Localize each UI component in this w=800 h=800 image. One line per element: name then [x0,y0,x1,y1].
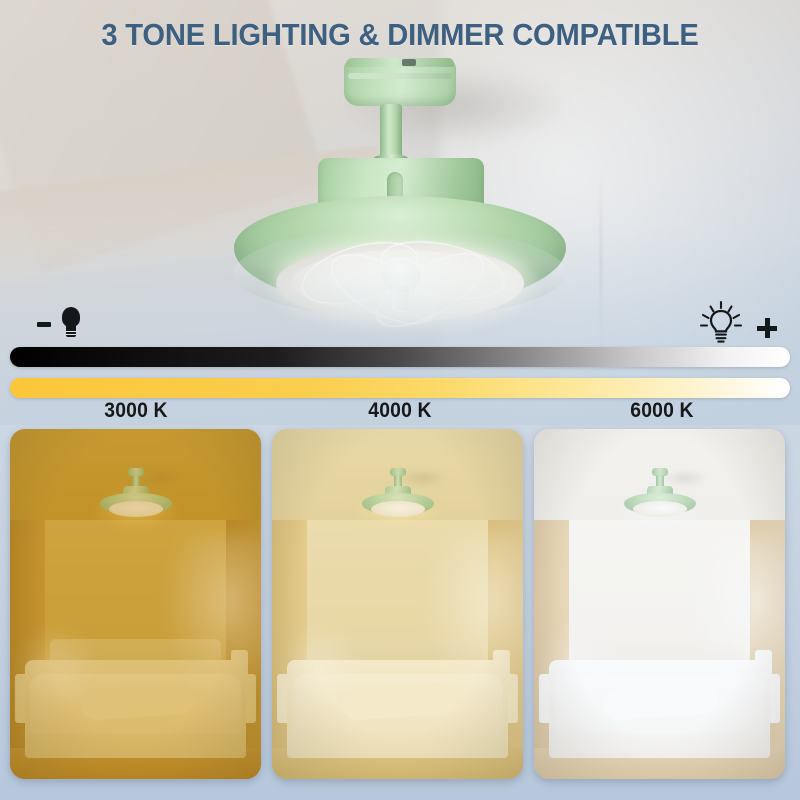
plus-sign [757,318,777,338]
room-photo-3000k[interactable] [10,429,261,779]
room-photo-6000k[interactable] [534,429,785,779]
minus-sign [37,322,51,327]
vignette [10,429,261,779]
kelvin-label-6000k: 6000 K [598,399,727,423]
vignette [534,429,785,779]
bulb-bright-icon [698,300,744,346]
kelvin-label-4000k: 4000 K [336,399,465,423]
vignette [272,429,523,779]
bulb-dim-icon [60,307,82,337]
page-title: 3 TONE LIGHTING & DIMMER COMPATIBLE [24,17,776,53]
kelvin-label-3000k: 3000 K [72,399,201,423]
product-infographic: 3000 K 4000 K 6000 K 3 TONE LIGHTING & D… [0,0,800,800]
brightness-gradient-bar[interactable] [10,347,790,367]
fan-canopy-top [346,58,454,67]
room-photo-4000k[interactable] [272,429,523,779]
room-comparison-row [0,425,800,800]
canopy-screw [402,59,416,66]
kelvin-label-row: 3000 K 4000 K 6000 K [0,399,800,425]
hero-product-scene: 3000 K 4000 K 6000 K [0,0,800,425]
fan-downrod [380,104,402,160]
color-temperature-gradient-bar[interactable] [10,378,790,398]
